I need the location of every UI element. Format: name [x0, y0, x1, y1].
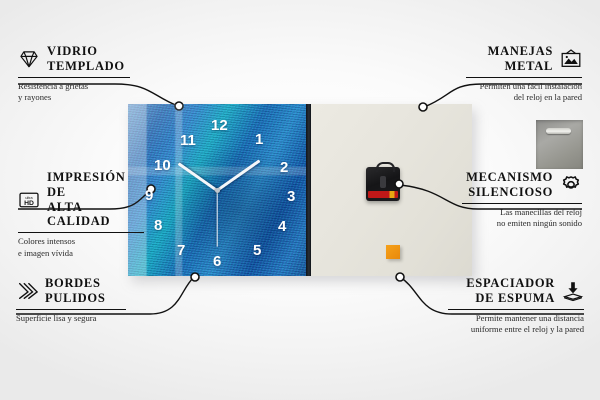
mechanism-hang-loop: [376, 162, 395, 172]
clock-numeral-11: 11: [180, 133, 196, 148]
feature-espaciador-espuma: ESPACIADOR DE ESPUMA Permite mantener un…: [448, 276, 584, 336]
feature-underline: [462, 203, 582, 204]
clock-numeral-7: 7: [177, 243, 185, 258]
mechanism-label-stripe: [368, 191, 398, 198]
feature-underline: [18, 77, 130, 78]
feature-description: Permite mantener una distancia uniforme …: [448, 313, 584, 336]
diamond-icon: [18, 48, 40, 70]
feature-header: ESPACIADOR DE ESPUMA: [448, 276, 584, 306]
feature-description: Resistencia a grietas y rayones: [18, 81, 130, 104]
clock-center-pin: [215, 188, 220, 193]
clock-mechanism: [366, 167, 400, 201]
feature-mecanismo-silencioso: MECANISMO SILENCIOSO Las manecillas del …: [462, 170, 582, 230]
wall-hanger-icon: [560, 48, 582, 70]
polished-edges-icon: [16, 280, 38, 302]
svg-text:HD: HD: [24, 199, 34, 206]
feature-underline: [18, 232, 144, 233]
feature-title: ESPACIADOR DE ESPUMA: [466, 276, 555, 306]
clock-numeral-2: 2: [280, 160, 288, 175]
feature-header: BORDES PULIDOS: [16, 276, 126, 306]
clock-numeral-10: 10: [154, 158, 171, 173]
clock-numeral-9: 9: [145, 188, 153, 203]
metal-hanger-plate: [536, 120, 583, 169]
feature-description: Permiten una fácil instalación del reloj…: [466, 81, 582, 104]
foam-spacer-icon: [562, 280, 584, 302]
gear-icon: [560, 174, 582, 196]
feature-bordes-pulidos: BORDES PULIDOS Superficie lisa y segura: [16, 276, 126, 324]
clock-numeral-4: 4: [278, 219, 286, 234]
clock-numeral-5: 5: [253, 243, 261, 258]
feature-underline: [448, 309, 584, 310]
infographic-canvas: 12 1 2 3 4 5 6 7 8 9 10 11: [0, 0, 600, 400]
glass-edge: [306, 104, 311, 276]
feature-impresion-alta-calidad: ultra HD IMPRESIÓN DE ALTA CALIDAD Color…: [18, 170, 144, 259]
feature-title: MANEJAS METAL: [488, 44, 553, 74]
hanger-keyhole-slot: [546, 128, 571, 134]
clock-numeral-6: 6: [213, 254, 221, 269]
clock-back-panel: [311, 104, 472, 276]
clock-numeral-3: 3: [287, 189, 295, 204]
feature-title: BORDES PULIDOS: [45, 276, 105, 306]
mechanism-shaft: [380, 176, 386, 188]
feature-title: VIDRIO TEMPLADO: [47, 44, 125, 74]
feature-title: MECANISMO SILENCIOSO: [466, 170, 553, 200]
foam-spacer: [386, 245, 400, 259]
feature-header: ultra HD IMPRESIÓN DE ALTA CALIDAD: [18, 170, 144, 229]
feature-underline: [466, 77, 582, 78]
feature-underline: [16, 309, 126, 310]
feature-description: Superficie lisa y segura: [16, 313, 126, 324]
feature-description: Colores intensos e imagen vívida: [18, 236, 144, 259]
feature-description: Las manecillas del reloj no emiten ningú…: [462, 207, 582, 230]
ultra-hd-icon: ultra HD: [18, 189, 40, 211]
clock-numeral-8: 8: [154, 218, 162, 233]
feature-manejas-metal: MANEJAS METAL Permiten una fácil instala…: [466, 44, 582, 104]
feature-title: IMPRESIÓN DE ALTA CALIDAD: [47, 170, 144, 229]
clock-numeral-12: 12: [211, 118, 228, 133]
clock-second-hand: [216, 191, 217, 247]
feature-vidrio-templado: VIDRIO TEMPLADO Resistencia a grietas y …: [18, 44, 130, 104]
product-image: 12 1 2 3 4 5 6 7 8 9 10 11: [128, 104, 472, 276]
feature-header: VIDRIO TEMPLADO: [18, 44, 130, 74]
clock-numeral-1: 1: [255, 132, 263, 147]
feature-header: MECANISMO SILENCIOSO: [462, 170, 582, 200]
feature-header: MANEJAS METAL: [466, 44, 582, 74]
